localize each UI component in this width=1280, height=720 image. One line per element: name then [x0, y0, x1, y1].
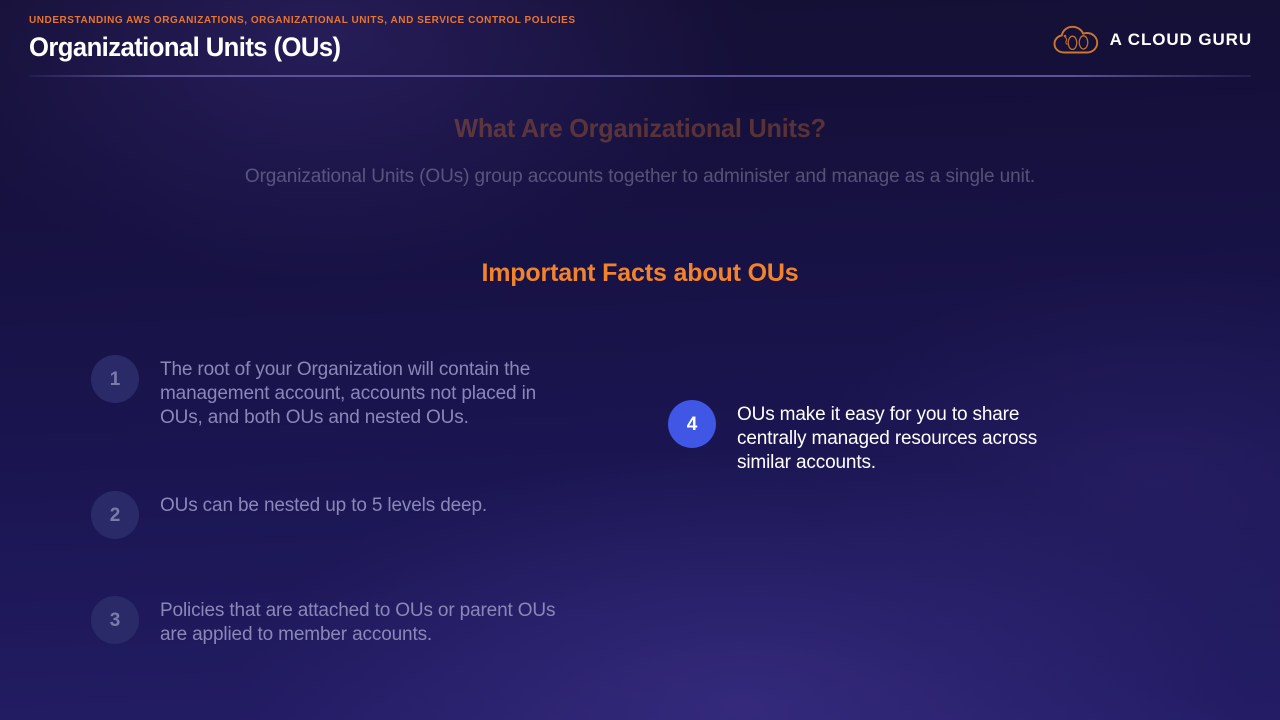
facts-heading: Important Facts about OUs	[0, 259, 1280, 288]
brand-name-label: A CLOUD GURU	[1110, 30, 1252, 50]
page-title: Organizational Units (OUs)	[29, 32, 341, 63]
fact-item-1: 1 The root of your Organization will con…	[91, 355, 561, 430]
fact-text-4: OUs make it easy for you to share centra…	[737, 400, 1088, 475]
intro-heading: What Are Organizational Units?	[19, 113, 1261, 144]
fact-number-badge-2: 2	[91, 491, 139, 539]
fact-number-badge-1: 1	[91, 355, 139, 403]
fact-item-4: 4 OUs make it easy for you to share cent…	[668, 400, 1088, 475]
fact-text-2: OUs can be nested up to 5 levels deep.	[160, 491, 487, 518]
slide-stage: UNDERSTANDING AWS ORGANIZATIONS, ORGANIZ…	[0, 0, 1280, 720]
cloud-guru-logo-icon	[1053, 25, 1099, 55]
course-eyebrow-label: UNDERSTANDING AWS ORGANIZATIONS, ORGANIZ…	[29, 15, 576, 26]
fact-number-badge-3: 3	[91, 596, 139, 644]
fact-item-2: 2 OUs can be nested up to 5 levels deep.	[91, 491, 561, 539]
intro-body-text: Organizational Units (OUs) group account…	[0, 166, 1280, 188]
fact-text-3: Policies that are attached to OUs or par…	[160, 596, 561, 647]
header-divider	[29, 75, 1251, 77]
fact-item-3: 3 Policies that are attached to OUs or p…	[91, 596, 561, 647]
fact-number-badge-4: 4	[668, 400, 716, 448]
brand-logo: A CLOUD GURU	[1053, 25, 1252, 55]
fact-text-1: The root of your Organization will conta…	[160, 355, 561, 430]
slide-header: UNDERSTANDING AWS ORGANIZATIONS, ORGANIZ…	[0, 0, 1280, 76]
